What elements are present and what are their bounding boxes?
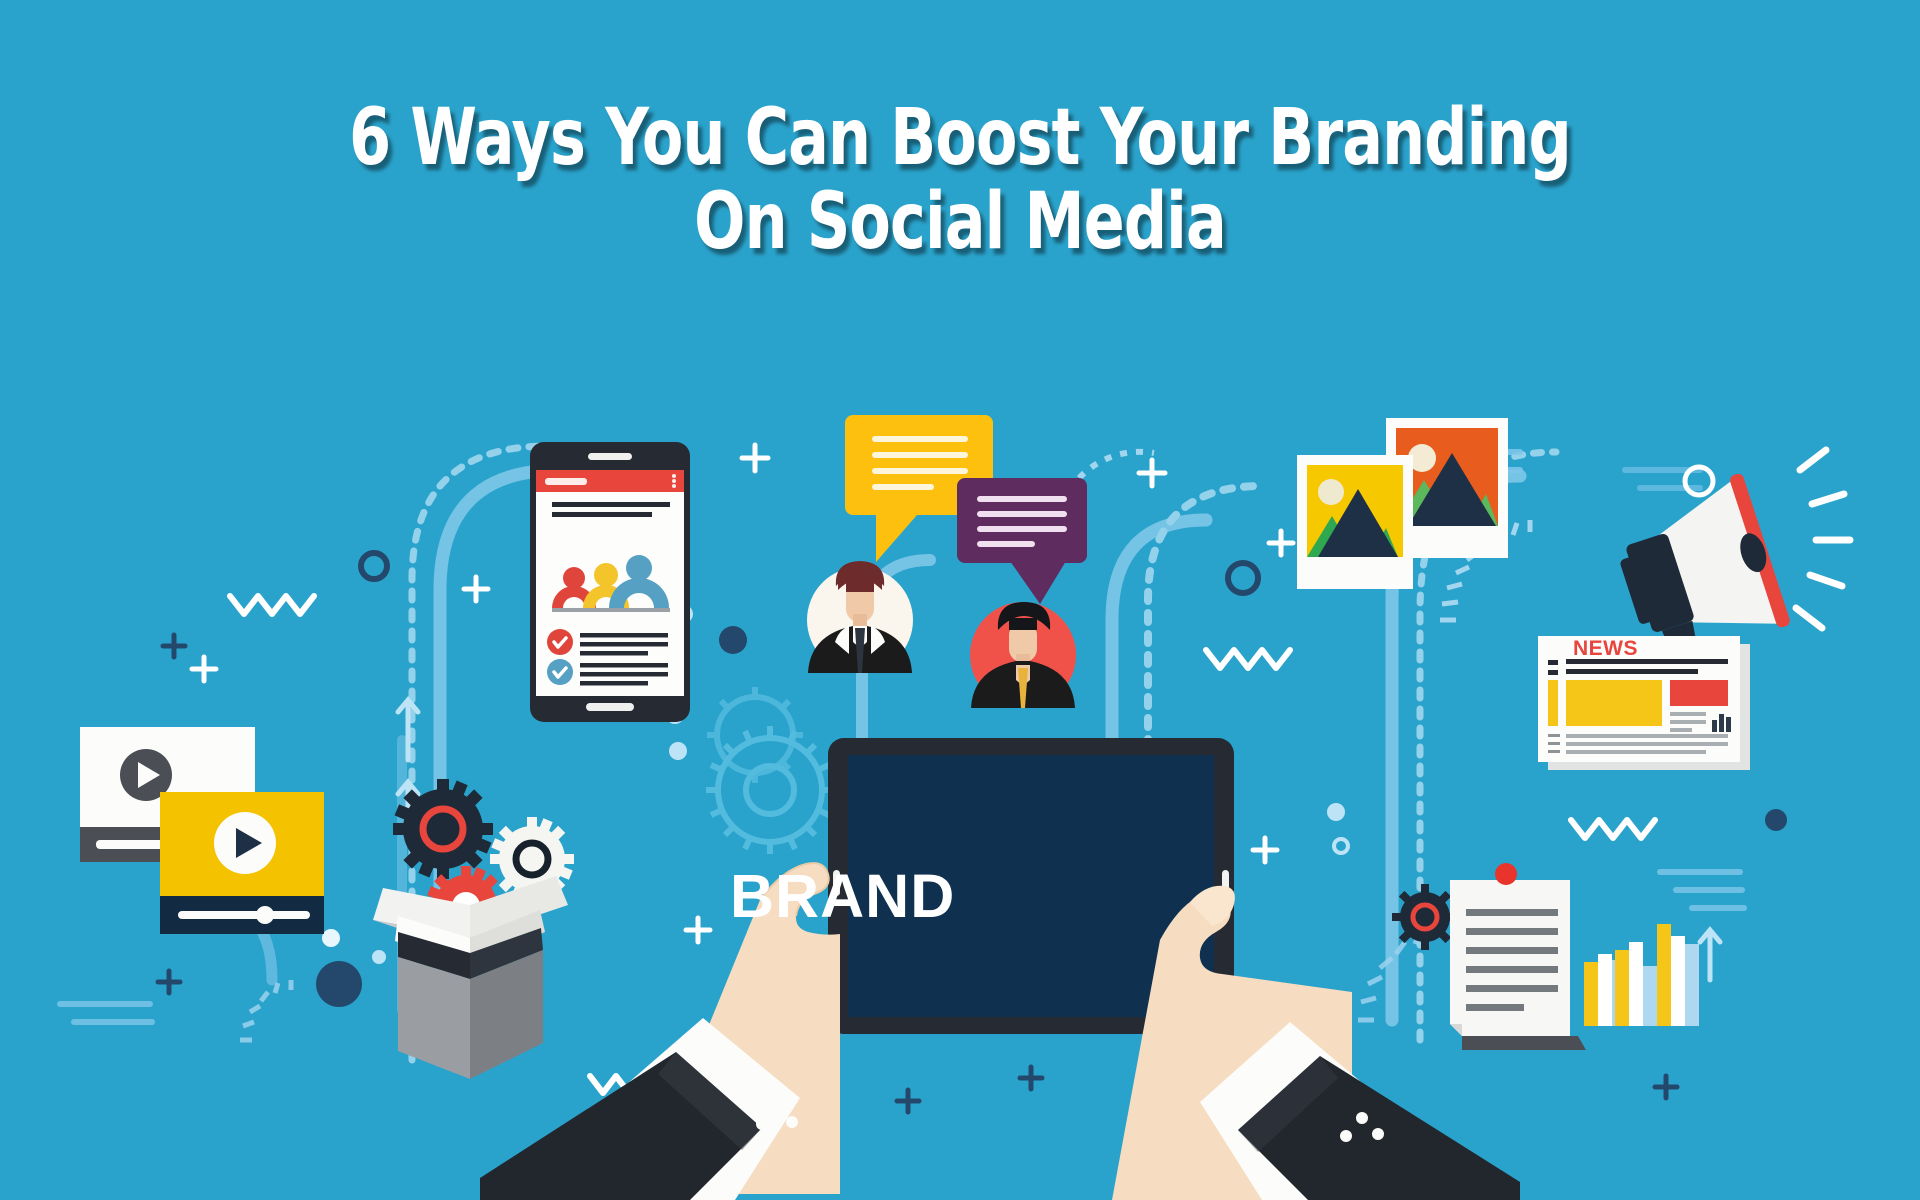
illustration-canvas: 6 Ways You Can Boost Your Branding On So… <box>0 0 1920 1200</box>
pin-icon <box>1495 863 1517 885</box>
smartphone <box>530 442 690 722</box>
social-media-branding-illustration <box>0 0 1920 1200</box>
document-icon <box>1450 863 1586 1050</box>
avatar-red <box>970 602 1076 708</box>
video-player-yellow <box>160 792 324 934</box>
gear-small-right-icon <box>1392 884 1458 950</box>
check-icon-red <box>547 629 573 655</box>
newspaper <box>1538 636 1750 770</box>
photo-frame-yellow <box>1297 455 1413 589</box>
gear-navy-icon <box>393 779 493 879</box>
check-icon-blue <box>547 659 573 685</box>
